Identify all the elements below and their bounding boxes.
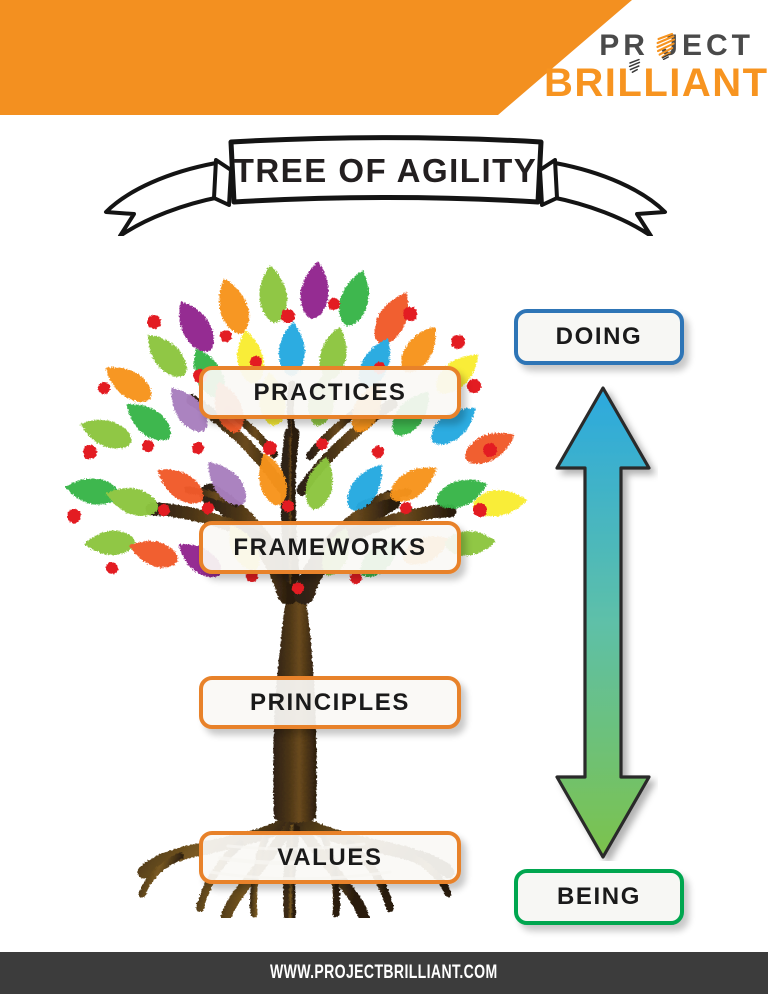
double-headed-vertical-arrow-icon (548, 384, 658, 861)
tree-illustration (60, 258, 530, 918)
lightbulb-dot-icon (628, 58, 641, 75)
plaque-values-label: VALUES (277, 844, 382, 872)
logo-brilliant-text: BRILLIANT (544, 61, 768, 105)
brand-logo[interactable]: PR JECT (544, 30, 754, 108)
footer-website-url[interactable]: WWW.PROJECTBRILLIANT.COM (270, 962, 498, 984)
page-header: PR JECT (0, 0, 768, 115)
logo-wordmark-brilliant: BRILLIANT (544, 62, 754, 104)
plaque-frameworks[interactable]: FRAMEWORKS (199, 521, 461, 574)
state-box-doing[interactable]: DOING (514, 309, 684, 365)
plaque-values[interactable]: VALUES (199, 831, 461, 884)
plaque-practices[interactable]: PRACTICES (199, 366, 461, 419)
state-box-being[interactable]: BEING (514, 869, 684, 925)
lightbulb-icon (655, 32, 677, 60)
plaque-principles[interactable]: PRINCIPLES (199, 676, 461, 729)
plaque-principles-label: PRINCIPLES (250, 689, 410, 717)
logo-wordmark-project: PR JECT (544, 30, 754, 62)
banner: TREE OF AGILITY (98, 126, 673, 236)
state-box-doing-label: DOING (556, 323, 643, 351)
poster-page: PR JECT (0, 0, 768, 994)
page-footer: WWW.PROJECTBRILLIANT.COM (0, 952, 768, 994)
page-title: TREE OF AGILITY (98, 150, 673, 192)
state-box-being-label: BEING (557, 883, 641, 911)
plaque-frameworks-label: FRAMEWORKS (233, 534, 426, 562)
plaque-practices-label: PRACTICES (253, 379, 406, 407)
